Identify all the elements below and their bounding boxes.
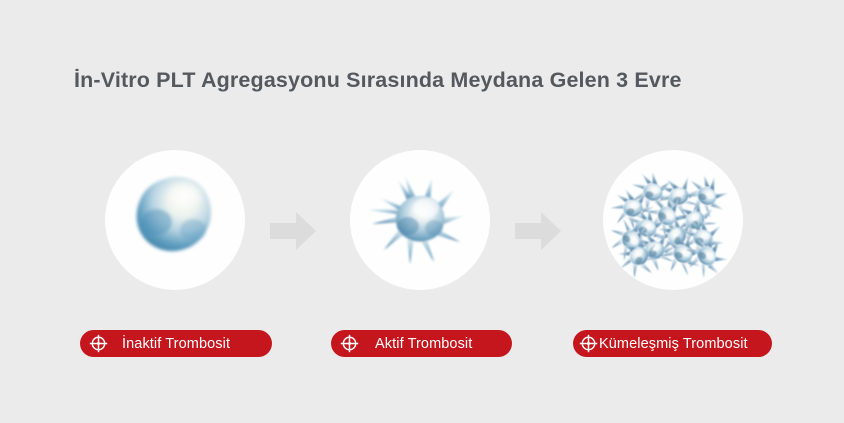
- arrow-right-icon-1: [270, 212, 316, 250]
- crosshair-icon: [579, 334, 598, 353]
- stage-3-badge-label: Kümeleşmiş Trombosit: [599, 336, 748, 352]
- stage-1-badge[interactable]: İnaktif Trombosit: [80, 330, 272, 357]
- active-platelet-illustration: [350, 150, 490, 290]
- stage-3-group: [603, 150, 743, 290]
- stage-1-circle: [105, 150, 245, 290]
- stage-2-badge-label: Aktif Trombosit: [375, 336, 472, 352]
- crosshair-icon: [340, 334, 359, 353]
- stage-2-group: [350, 150, 490, 290]
- infographic-canvas: İn-Vitro PLT Agregasyonu Sırasında Meyda…: [0, 0, 844, 423]
- stage-1-badge-label: İnaktif Trombosit: [122, 336, 230, 352]
- aggregated-platelets-illustration: [603, 150, 743, 290]
- page-title: İn-Vitro PLT Agregasyonu Sırasında Meyda…: [74, 68, 794, 93]
- stage-3-circle: [603, 150, 743, 290]
- arrow-right-icon-2: [515, 212, 561, 250]
- crosshair-icon: [89, 334, 108, 353]
- stage-2-badge[interactable]: Aktif Trombosit: [331, 330, 512, 357]
- stage-3-badge[interactable]: Kümeleşmiş Trombosit: [573, 330, 772, 357]
- inactive-platelet-illustration: [105, 150, 245, 290]
- stage-2-circle: [350, 150, 490, 290]
- stage-1-group: [105, 150, 245, 290]
